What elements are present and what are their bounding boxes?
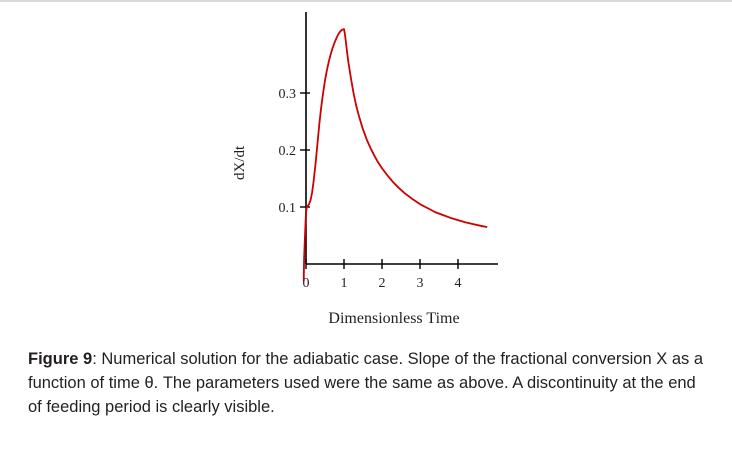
- x-tick-label-4: 4: [455, 276, 462, 291]
- figure-graphic: dX/dt 0.1 0.2 0.3 0: [0, 2, 732, 340]
- figure-caption-label: Figure 9: [28, 350, 92, 368]
- y-tick-label-1: 0.2: [279, 144, 297, 159]
- chart-canvas: 0.1 0.2 0.3 0 1 2 3 4: [226, 2, 566, 302]
- x-tick-label-3: 3: [417, 276, 424, 291]
- x-tick-label-2: 2: [379, 276, 386, 291]
- figure-caption-text: : Numerical solution for the adiabatic c…: [28, 350, 703, 416]
- y-tick-label-0: 0.1: [279, 201, 297, 216]
- figure-caption: Figure 9: Numerical solution for the adi…: [28, 348, 706, 420]
- data-series-line: [304, 29, 487, 281]
- figure-page: dX/dt 0.1 0.2 0.3 0: [0, 0, 732, 462]
- x-axis-label: Dimensionless Time: [0, 310, 732, 328]
- y-tick-label-2: 0.3: [279, 87, 297, 102]
- y-tick-marks: [300, 93, 310, 207]
- x-tick-label-1: 1: [341, 276, 348, 291]
